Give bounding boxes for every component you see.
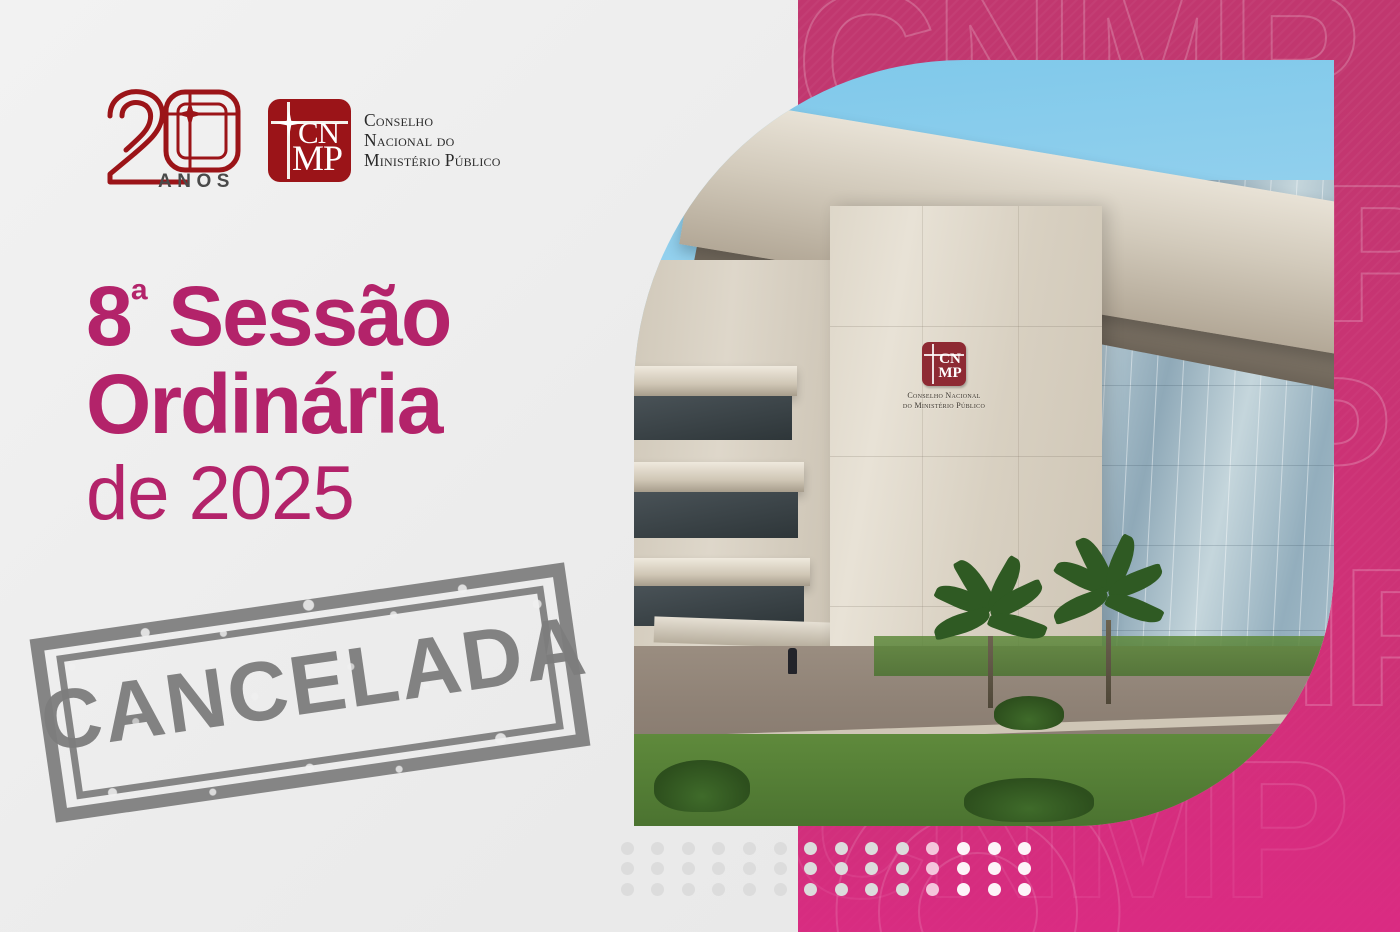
cnmp-logo: CN MP Conselho Nacional do Ministério Pú… <box>268 99 501 182</box>
building-cnmp-sign: CN MP Conselho Nacional do Ministério Pú… <box>892 342 996 438</box>
title-session-word: Sessão <box>147 269 451 363</box>
cnmp-name-block: Conselho Nacional do Ministério Público <box>364 110 501 170</box>
cnmp-name-line-3: Ministério Público <box>364 150 501 170</box>
title-line-1: 8ª Sessão <box>86 272 450 360</box>
shrub <box>964 778 1094 822</box>
event-poster: CNMP CNMP CNMP CNMP CNMP <box>0 0 1400 932</box>
palm-tree <box>1064 572 1152 704</box>
facade-ledge <box>634 366 797 396</box>
cnmp-mark-icon: CN MP <box>268 99 351 182</box>
logo-lockup: ANOS CN MP Conselho Nacional do Ministér… <box>100 86 501 194</box>
cnmp-building-photo: CN MP Conselho Nacional do Ministério Pú… <box>634 60 1334 826</box>
title-ordinal-mark: ª <box>131 274 147 326</box>
palm-tree <box>952 590 1028 708</box>
20-anos-logo: ANOS <box>100 86 246 194</box>
title-line-3: de 2025 <box>86 448 450 540</box>
sign-line-2: do Ministério Público <box>892 401 996 411</box>
title-session-number: 8 <box>86 269 131 363</box>
person <box>788 648 797 674</box>
cancelled-stamp: CANCELADA <box>30 562 591 822</box>
sign-line-1: Conselho Nacional <box>892 391 996 401</box>
anos-label: ANOS <box>158 171 235 193</box>
sign-acronym-bottom: MP <box>938 365 961 381</box>
shrub <box>654 760 750 812</box>
cnmp-name-line-1: Conselho <box>364 110 501 130</box>
title-line-2: Ordinária <box>86 360 450 448</box>
facade-window <box>634 492 798 538</box>
shrub <box>994 696 1064 730</box>
cnmp-mp-letters: MP <box>292 141 342 175</box>
facade-window <box>634 396 792 440</box>
facade-ledge <box>634 462 804 492</box>
event-title: 8ª Sessão Ordinária de 2025 <box>86 272 450 540</box>
building-cnmp-mark: CN MP <box>922 342 966 386</box>
cnmp-name-line-2: Nacional do <box>364 130 501 150</box>
facade-ledge <box>634 558 810 586</box>
